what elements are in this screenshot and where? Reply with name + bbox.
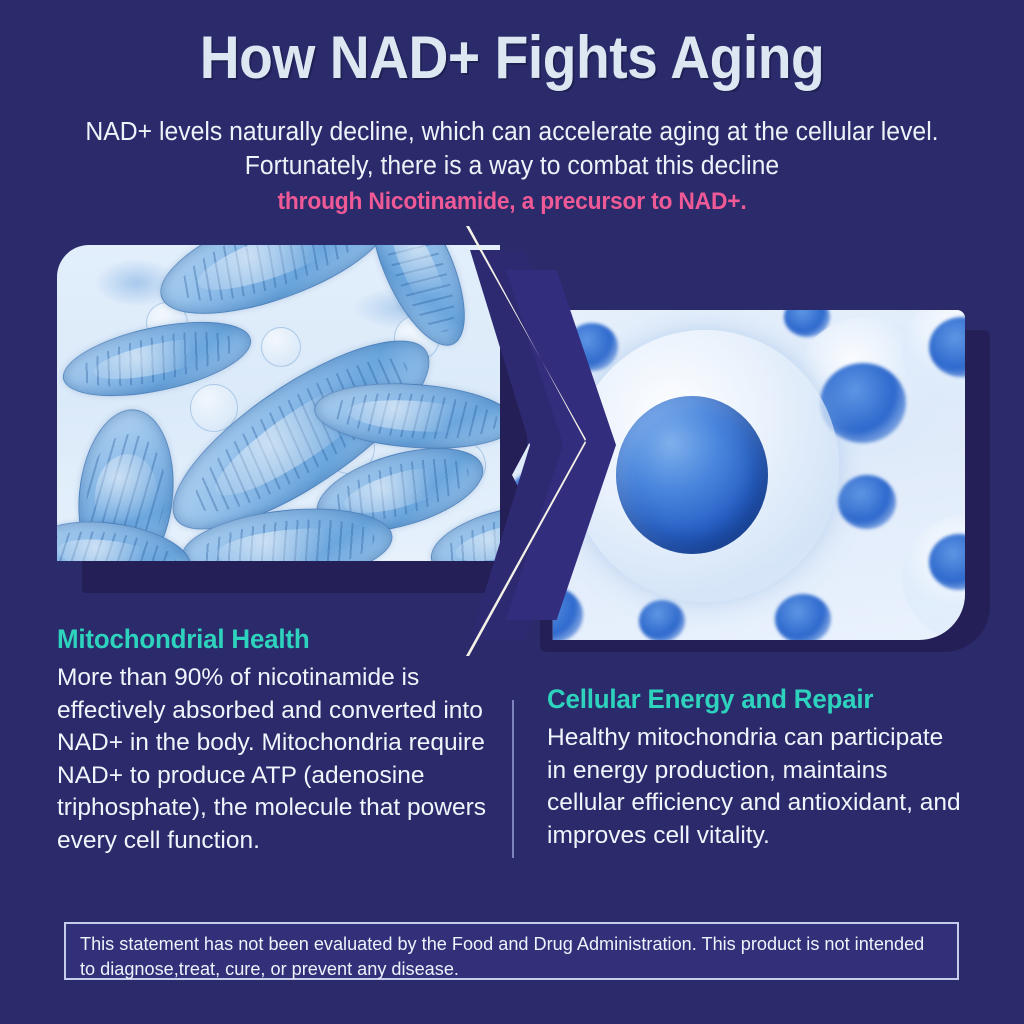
column-divider xyxy=(512,700,514,858)
column-heading-cellular-energy-and-repair: Cellular Energy and Repair xyxy=(547,684,873,715)
mitochondria-image xyxy=(57,245,500,561)
column-body-mitochondrial-health: More than 90% of nicotinamide is effecti… xyxy=(57,662,489,857)
subtitle-text: NAD+ levels naturally decline, which can… xyxy=(62,116,962,183)
subtitle-accent-text: through Nicotinamide, a precursor to NAD… xyxy=(71,188,953,216)
column-heading-mitochondrial-health: Mitochondrial Health xyxy=(57,624,309,655)
page-title: How NAD+ Fights Aging xyxy=(41,26,983,89)
disclaimer-text: This statement has not been evaluated by… xyxy=(80,932,926,981)
disclaimer-box: This statement has not been evaluated by… xyxy=(64,922,959,980)
infographic-canvas: How NAD+ Fights Aging NAD+ levels natura… xyxy=(0,0,1024,1024)
column-body-cellular-energy-and-repair: Healthy mitochondria can participate in … xyxy=(547,722,967,852)
